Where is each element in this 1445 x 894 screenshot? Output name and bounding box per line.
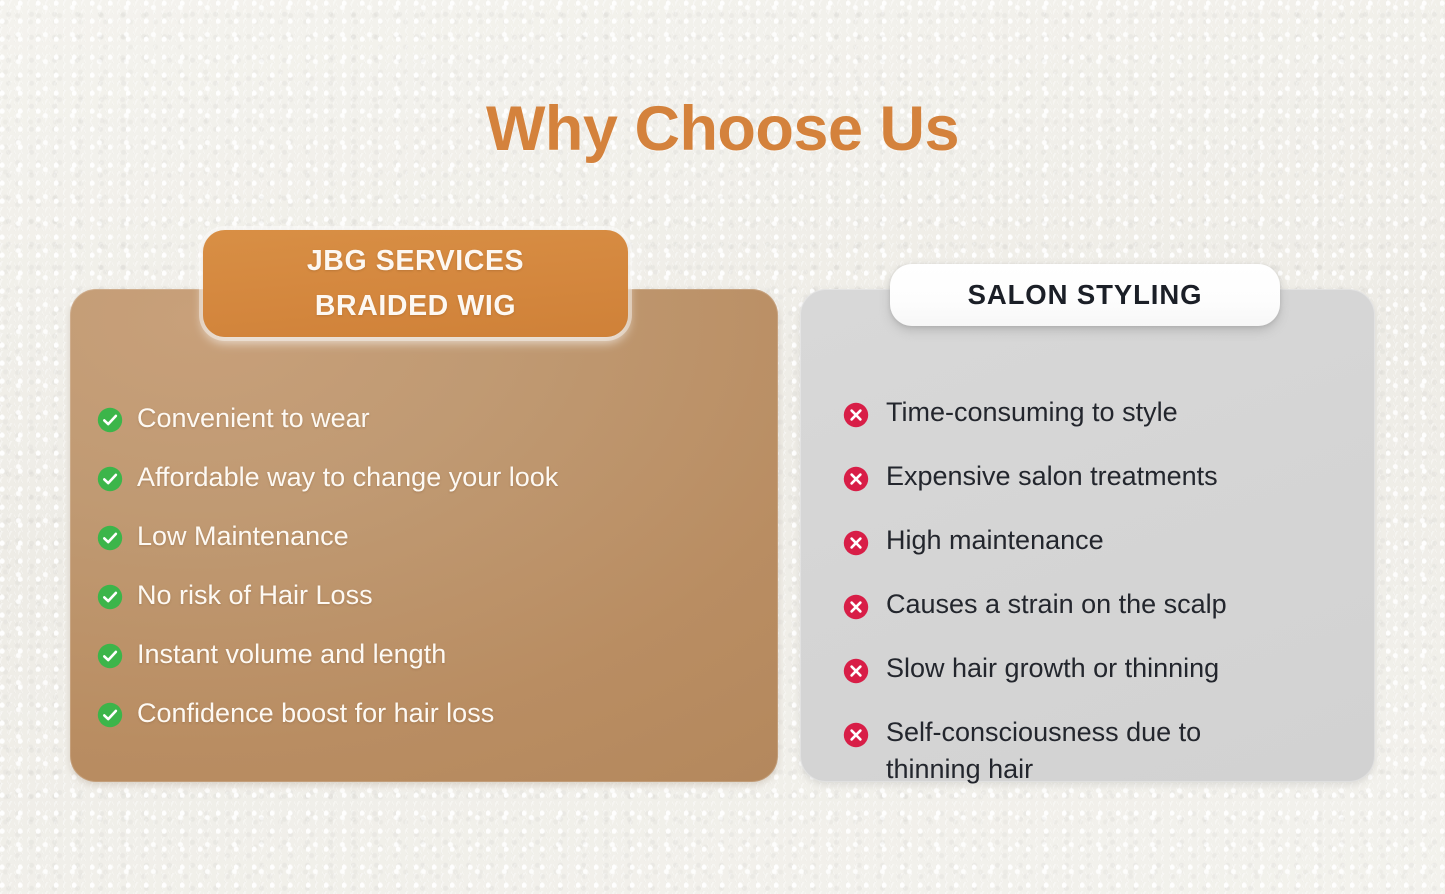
card-header-salon-styling: SALON STYLING	[890, 264, 1280, 326]
x-circle-icon	[843, 658, 869, 684]
x-circle-icon	[843, 466, 869, 492]
list-item: Causes a strain on the scalp	[843, 586, 1343, 623]
check-circle-icon	[97, 407, 123, 433]
list-item: Instant volume and length	[97, 636, 737, 673]
card-header-jbg-services: JBG SERVICES BRAIDED WIG	[203, 230, 628, 337]
check-circle-icon	[97, 466, 123, 492]
infographic-canvas: Why Choose Us JBG SERVICES BRAIDED WIG C…	[0, 0, 1445, 894]
check-circle-icon	[97, 584, 123, 610]
card-header-line-1: SALON STYLING	[968, 279, 1203, 311]
x-circle-icon	[843, 402, 869, 428]
page-title: Why Choose Us	[0, 93, 1445, 165]
list-item-label: Self-consciousness due to thinning hair	[886, 714, 1256, 788]
x-circle-icon	[843, 530, 869, 556]
card-header-line-2: BRAIDED WIG	[307, 284, 524, 328]
check-circle-icon	[97, 702, 123, 728]
list-item: Time-consuming to style	[843, 394, 1343, 431]
list-item-label: Time-consuming to style	[886, 394, 1178, 431]
list-item: Convenient to wear	[97, 400, 737, 437]
drawback-list: Time-consuming to style Expensive salon …	[843, 394, 1343, 815]
x-circle-icon	[843, 722, 869, 748]
list-item-label: Convenient to wear	[137, 400, 370, 437]
list-item: Self-consciousness due to thinning hair	[843, 714, 1343, 788]
list-item-label: Affordable way to change your look	[137, 459, 558, 496]
list-item: Low Maintenance	[97, 518, 737, 555]
list-item-label: Expensive salon treatments	[886, 458, 1218, 495]
check-circle-icon	[97, 643, 123, 669]
x-circle-icon	[843, 594, 869, 620]
list-item: Expensive salon treatments	[843, 458, 1343, 495]
list-item: High maintenance	[843, 522, 1343, 559]
list-item-label: Instant volume and length	[137, 636, 446, 673]
benefit-list: Convenient to wear Affordable way to cha…	[97, 400, 737, 754]
list-item: Confidence boost for hair loss	[97, 695, 737, 732]
list-item: No risk of Hair Loss	[97, 577, 737, 614]
list-item-label: High maintenance	[886, 522, 1104, 559]
list-item-label: No risk of Hair Loss	[137, 577, 373, 614]
list-item: Affordable way to change your look	[97, 459, 737, 496]
list-item-label: Slow hair growth or thinning	[886, 650, 1219, 687]
card-header-line-1: JBG SERVICES	[307, 239, 524, 283]
check-circle-icon	[97, 525, 123, 551]
list-item-label: Causes a strain on the scalp	[886, 586, 1227, 623]
list-item-label: Confidence boost for hair loss	[137, 695, 494, 732]
list-item-label: Low Maintenance	[137, 518, 349, 555]
list-item: Slow hair growth or thinning	[843, 650, 1343, 687]
